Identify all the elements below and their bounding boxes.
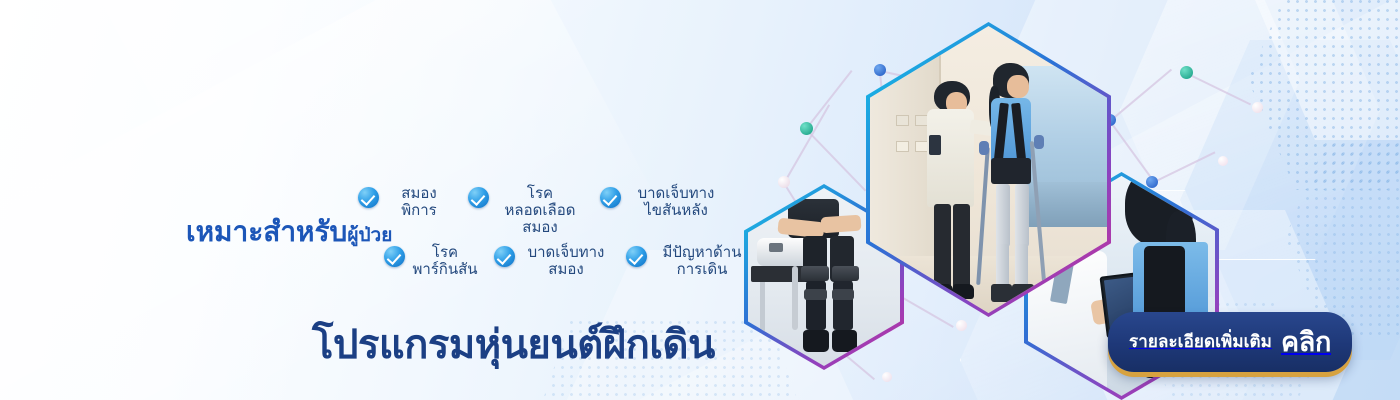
dot-pattern (1248, 0, 1400, 190)
program-title: โปรแกรมหุ่นยนต์ฝึกเดิน (312, 312, 715, 376)
condition-label: โรค พาร์กินสัน (410, 245, 480, 279)
condition-label: โรค หลอดเลือดสมอง (494, 186, 586, 236)
condition-line: บาดเจ็บทาง (528, 244, 605, 261)
condition-item: มีปัญหาด้าน การเดิน (626, 245, 752, 279)
hexagon-gradient-frame (866, 22, 1111, 317)
condition-line: สมอง (548, 261, 583, 278)
condition-label: สมอง พิการ (384, 186, 454, 220)
condition-item: บาดเจ็บทาง สมอง (494, 245, 612, 279)
cta-container: รายละเอียดเพิ่มเติม คลิก (1108, 312, 1352, 372)
conditions-checklist: สมอง พิการ โรค หลอดเลือดสมอง บาดเจ็บทาง (358, 186, 758, 288)
condition-line: ไขสันหลัง (644, 202, 708, 219)
exoskeleton-promo-banner: เหมาะสำหรับผู้ป่วย สมอง พิการ โรค หลอดเล… (0, 0, 1400, 400)
condition-line: หลอดเลือดสมอง (505, 202, 576, 236)
check-circle-icon (626, 246, 647, 267)
condition-line: บาดเจ็บทาง (638, 185, 715, 202)
condition-line: โรค (527, 185, 553, 202)
check-circle-icon (384, 246, 405, 267)
banner-copy: เหมาะสำหรับผู้ป่วย สมอง พิการ โรค หลอดเล… (0, 0, 820, 400)
condition-label: บาดเจ็บทาง ไขสันหลัง (626, 186, 726, 220)
photo-patient-walking-with-therapist (866, 22, 1111, 317)
conditions-row-1: สมอง พิการ โรค หลอดเลือดสมอง บาดเจ็บทาง (358, 186, 758, 236)
condition-line: โรค (432, 244, 458, 261)
condition-label: บาดเจ็บทาง สมอง (520, 245, 612, 279)
condition-item: สมอง พิการ (358, 186, 454, 236)
hexagon-shape (1255, 0, 1400, 140)
clinic-scene (870, 26, 1107, 313)
check-circle-icon (358, 187, 379, 208)
check-circle-icon (494, 246, 515, 267)
condition-line: มีปัญหาด้าน (663, 244, 742, 261)
check-circle-icon (600, 187, 621, 208)
cta-subtitle: รายละเอียดเพิ่มเติม (1129, 328, 1272, 355)
headline-line-2 (190, 102, 200, 156)
condition-item: โรค หลอดเลือดสมอง (468, 186, 586, 236)
condition-item: โรค พาร์กินสัน (384, 245, 480, 279)
cta-click-label: คลิก (1281, 320, 1331, 363)
dot-pattern (1285, 140, 1400, 335)
check-circle-icon (468, 187, 489, 208)
conditions-row-2: โรค พาร์กินสัน บาดเจ็บทาง สมอง มีปัญหาด้… (384, 245, 758, 279)
condition-line: พิการ (401, 202, 436, 219)
condition-label: มีปัญหาด้าน การเดิน (652, 245, 752, 279)
condition-line: สมอง (401, 185, 436, 202)
more-details-button[interactable]: รายละเอียดเพิ่มเติม คลิก (1108, 312, 1352, 372)
condition-line: การเดิน (677, 261, 728, 278)
condition-line: พาร์กินสัน (412, 261, 477, 278)
suited-for-text: เหมาะสำหรับ (186, 216, 347, 247)
condition-item: บาดเจ็บทาง ไขสันหลัง (600, 186, 726, 236)
